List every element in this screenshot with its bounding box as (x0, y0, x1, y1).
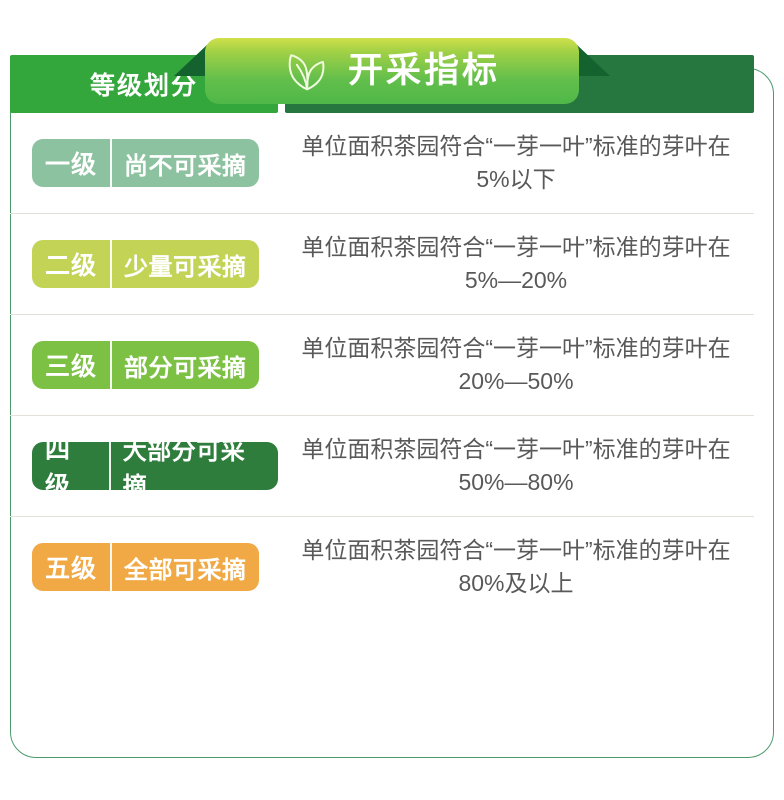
banner-body: 开采指标 (205, 38, 579, 104)
cell-meaning: 单位面积茶园符合“一芽一叶”标准的芽叶在50%—80% (278, 433, 754, 498)
cell-grade: 二级 少量可采摘 (10, 240, 278, 288)
table-row: 三级 部分可采摘 单位面积茶园符合“一芽一叶”标准的芽叶在20%—50% (10, 315, 754, 416)
badge-status-label: 大部分可采摘 (111, 442, 278, 490)
table-body: 一级 尚不可采摘 单位面积茶园符合“一芽一叶”标准的芽叶在5%以下 二级 少量可… (10, 113, 754, 617)
cell-grade: 四级 大部分可采摘 (10, 442, 278, 490)
grade-badge[interactable]: 四级 大部分可采摘 (32, 442, 278, 490)
cell-meaning: 单位面积茶园符合“一芽一叶”标准的芽叶在20%—50% (278, 332, 754, 397)
leaf-sprout-icon (284, 49, 330, 95)
grade-badge[interactable]: 二级 少量可采摘 (32, 240, 259, 288)
cell-meaning: 单位面积茶园符合“一芽一叶”标准的芽叶在5%—20% (278, 231, 754, 296)
badge-level-label: 二级 (32, 240, 112, 288)
grade-badge[interactable]: 三级 部分可采摘 (32, 341, 259, 389)
table-row: 四级 大部分可采摘 单位面积茶园符合“一芽一叶”标准的芽叶在50%—80% (10, 416, 754, 517)
badge-level-label: 一级 (32, 139, 112, 187)
badge-status-label: 尚不可采摘 (112, 139, 259, 187)
table-row: 五级 全部可采摘 单位面积茶园符合“一芽一叶”标准的芽叶在80%及以上 (10, 517, 754, 617)
badge-status-label: 全部可采摘 (112, 543, 259, 591)
grade-badge[interactable]: 一级 尚不可采摘 (32, 139, 259, 187)
ribbon-tail-right (576, 44, 610, 76)
table-row: 二级 少量可采摘 单位面积茶园符合“一芽一叶”标准的芽叶在5%—20% (10, 214, 754, 315)
ribbon-tail-left (174, 44, 208, 76)
indicator-table: 等级划分 详细含义 一级 尚不可采摘 单位面积茶园符合“一芽一叶”标准的芽叶在5… (10, 55, 754, 617)
cell-meaning: 单位面积茶园符合“一芽一叶”标准的芽叶在5%以下 (278, 130, 754, 195)
cell-grade: 一级 尚不可采摘 (10, 139, 278, 187)
table-row: 一级 尚不可采摘 单位面积茶园符合“一芽一叶”标准的芽叶在5%以下 (10, 113, 754, 214)
cell-meaning: 单位面积茶园符合“一芽一叶”标准的芽叶在80%及以上 (278, 534, 754, 599)
title-banner: 开采指标 (0, 38, 784, 106)
grade-badge[interactable]: 五级 全部可采摘 (32, 543, 259, 591)
infographic-page: 开采指标 等级划分 详细含义 一级 尚不可采摘 单位面积茶园符合“一芽一叶”标准… (0, 0, 784, 800)
badge-status-label: 少量可采摘 (112, 240, 259, 288)
badge-status-label: 部分可采摘 (112, 341, 259, 389)
badge-level-label: 四级 (32, 442, 111, 490)
cell-grade: 三级 部分可采摘 (10, 341, 278, 389)
badge-level-label: 五级 (32, 543, 112, 591)
badge-level-label: 三级 (32, 341, 112, 389)
cell-grade: 五级 全部可采摘 (10, 543, 278, 591)
banner-title: 开采指标 (348, 53, 500, 90)
